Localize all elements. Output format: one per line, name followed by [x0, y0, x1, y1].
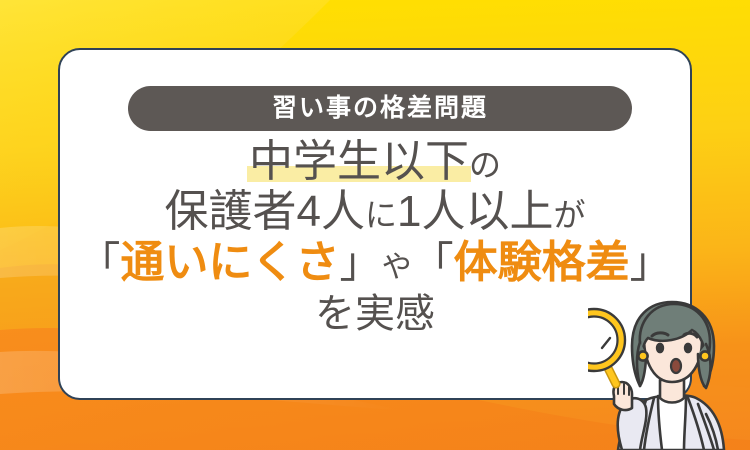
headline-line-1-suffix: の: [469, 147, 501, 183]
eye-right: [684, 343, 692, 354]
close-bracket-2: 」: [630, 239, 672, 286]
badge-label: 習い事の格差問題: [272, 96, 488, 121]
earring-left: [638, 351, 647, 360]
open-bracket-1: 「: [78, 239, 120, 286]
headline-line-2-part-1: 保護者4人: [165, 187, 365, 236]
headline-line-2-part-2: 1人以上: [397, 187, 553, 236]
earring-right: [700, 351, 709, 360]
headline-line-2-particle-1: に: [365, 197, 397, 233]
headline-line-2: 保護者4人に1人以上が: [60, 190, 690, 234]
surprised-mouth: [671, 359, 681, 373]
headline-line-3: 「通いにくさ」や「体験格差」: [60, 241, 690, 285]
headline-line-1: 中学生以下の: [60, 140, 690, 184]
magnifying-glass-icon: [588, 309, 625, 384]
conjunction-ya: や: [382, 251, 412, 284]
eye-left: [656, 343, 664, 354]
close-bracket-1: 」: [340, 239, 382, 286]
headline-line-2-particle-2: が: [553, 197, 585, 233]
headline-highlighted-term: 中学生以下: [249, 140, 469, 184]
accent-term-2: 体験格差: [454, 238, 630, 287]
open-bracket-2: 「: [412, 239, 454, 286]
banner-root: 習い事の格差問題 中学生以下の 保護者4人に1人以上が 「通いにくさ」や「体験格…: [0, 0, 750, 450]
woman-illustration-svg: [588, 288, 750, 450]
headline-line-4-text: を実感: [315, 292, 435, 336]
accent-term-1: 通いにくさ: [120, 238, 339, 287]
illustration-woman-with-magnifier: [588, 288, 750, 450]
badge-pill: 習い事の格差問題: [128, 86, 632, 131]
